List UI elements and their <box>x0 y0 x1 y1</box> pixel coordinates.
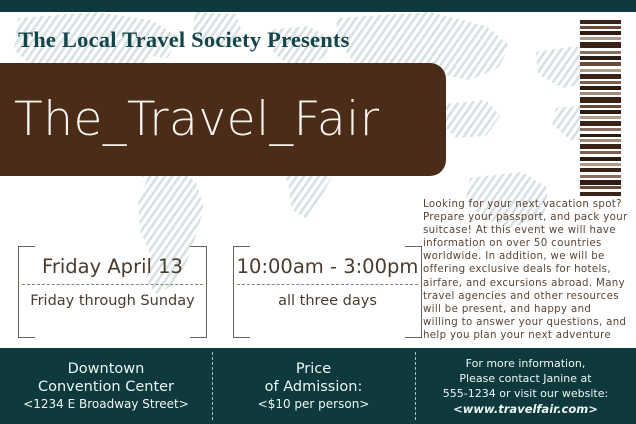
time-box: 10:00am - 3:00pm all three days <box>233 246 422 338</box>
title-banner: The_Travel_Fair <box>0 63 446 176</box>
date-box: Friday April 13 Friday through Sunday <box>18 246 207 338</box>
corner-bottom-right-icon <box>405 321 422 338</box>
box-divider <box>22 284 203 285</box>
travel-fair-ticket: The Local Travel Society Presents The_Tr… <box>0 0 636 424</box>
corner-bottom-left-icon <box>233 321 250 338</box>
venue-address: <1234 E Broadway Street> <box>23 396 189 412</box>
corner-bottom-left-icon <box>18 321 35 338</box>
website-link[interactable]: <www.travelfair.com> <box>453 401 598 417</box>
price-value: <$10 per person> <box>258 396 370 412</box>
event-title: The_Travel_Fair <box>14 96 380 143</box>
page-title: The Local Travel Society Presents <box>18 27 350 53</box>
barcode <box>580 20 621 196</box>
price-label-line1: Price <box>296 360 331 378</box>
event-date: Friday April 13 <box>22 250 203 283</box>
price-label-line2: of Admission: <box>265 378 363 396</box>
top-accent-band <box>0 0 636 12</box>
event-date-range: Friday through Sunday <box>22 288 203 314</box>
barcode-bar <box>580 192 621 196</box>
header: The Local Travel Society Presents <box>18 24 438 56</box>
event-time-note: all three days <box>237 288 418 314</box>
contact-line1: For more information, <box>466 356 586 371</box>
footer-price: Price of Admission: <$10 per person> <box>212 348 415 424</box>
box-divider <box>237 284 418 285</box>
event-description: Looking for your next vacation spot? Pre… <box>423 198 628 342</box>
contact-line2: Please contact Janine at <box>459 371 591 386</box>
event-time: 10:00am - 3:00pm <box>237 250 418 283</box>
venue-name-line1: Downtown <box>68 360 145 378</box>
venue-name-line2: Convention Center <box>38 378 174 396</box>
contact-line3: 555-1234 or visit our website: <box>443 386 608 401</box>
footer-venue: Downtown Convention Center <1234 E Broad… <box>0 348 212 424</box>
footer-contact: For more information, Please contact Jan… <box>415 348 636 424</box>
corner-bottom-right-icon <box>190 321 207 338</box>
